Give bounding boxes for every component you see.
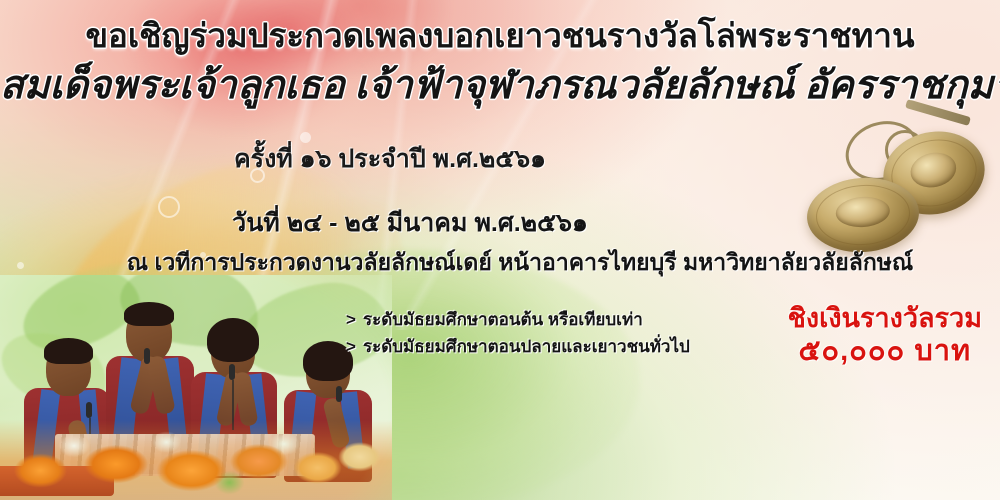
performer-hair xyxy=(124,302,174,326)
competition-levels-list: >ระดับมัธยมศึกษาตอนต้น หรือเทียบเท่า >ระ… xyxy=(346,306,690,360)
performer-hair xyxy=(44,338,93,364)
microphone-icon xyxy=(86,402,92,418)
performer-hair xyxy=(207,318,259,362)
level-item-label: ระดับมัธยมศึกษาตอนต้น หรือเทียบเท่า xyxy=(363,310,643,329)
chevron-right-icon: > xyxy=(346,337,356,356)
chevron-right-icon: > xyxy=(346,310,356,329)
event-date-line: วันที่ ๒๔ - ๒๕ มีนาคม พ.ศ.๒๕๖๑ xyxy=(0,207,1000,239)
level-item: >ระดับมัธยมศึกษาตอนต้น หรือเทียบเท่า xyxy=(346,306,690,333)
performers-photo xyxy=(0,275,392,500)
poster-canvas: ขอเชิญร่วมประกวดเพลงบอกเยาวชนรางวัลโล่พร… xyxy=(0,0,1000,500)
flower-arrangement xyxy=(0,420,392,500)
headline-royal-name: สมเด็จพระเจ้าลูกเธอ เจ้าฟ้าจุฬาภรณวลัยลั… xyxy=(0,60,1000,112)
microphone-icon xyxy=(229,364,235,380)
bokeh-dot xyxy=(300,132,311,143)
level-item: >ระดับมัธยมศึกษาตอนปลายและเยาวชนทั่วไป xyxy=(346,333,690,360)
prize-callout: ชิงเงินรางวัลรวม ๕๐,๐๐๐ บาท xyxy=(788,302,982,368)
microphone-icon xyxy=(144,348,150,364)
ching-cymbals xyxy=(801,104,986,264)
prize-label: ชิงเงินรางวัลรวม xyxy=(788,302,982,334)
level-item-label: ระดับมัธยมศึกษาตอนปลายและเยาวชนทั่วไป xyxy=(363,337,690,356)
edition-line: ครั้งที่ ๑๖ ประจำปี พ.ศ.๒๕๖๑ xyxy=(0,143,1000,175)
event-venue-line: ณ เวทีการประกวดงานวลัยลักษณ์เดย์ หน้าอาค… xyxy=(0,247,1000,277)
headline-primary: ขอเชิญร่วมประกวดเพลงบอกเยาวชนรางวัลโล่พร… xyxy=(0,16,1000,56)
prize-amount: ๕๐,๐๐๐ บาท xyxy=(788,334,982,368)
microphone-icon xyxy=(336,386,342,402)
